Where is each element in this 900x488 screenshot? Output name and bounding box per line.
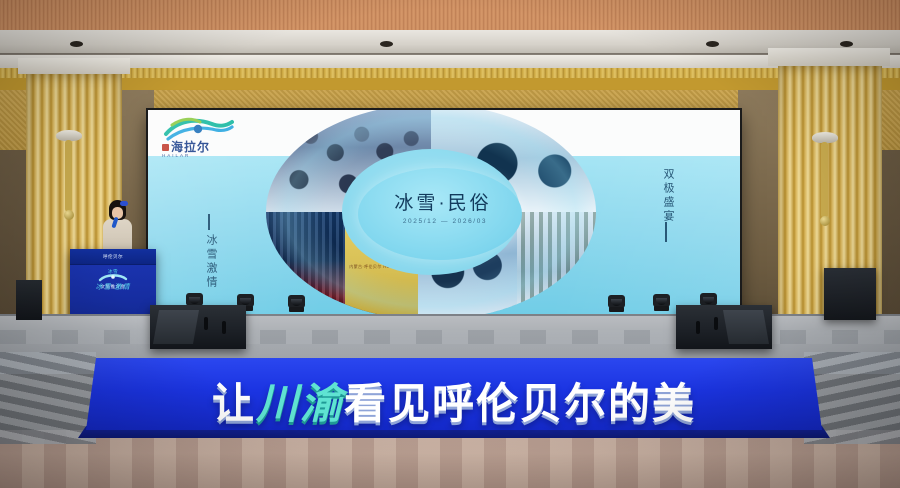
center-title: 冰雪·民俗 xyxy=(380,188,506,215)
podium-script-text: 冰雪 激情 xyxy=(70,282,156,292)
moving-head-light-icon xyxy=(653,289,670,311)
ceiling-spotlight-icon xyxy=(70,41,83,47)
pilaster-capital-left xyxy=(18,58,130,74)
riser-text-part2: 看见呼伦贝尔的美 xyxy=(344,380,696,427)
hailar-logo-cn: 海拉尔 xyxy=(162,142,246,153)
ballroom-carpet xyxy=(0,430,900,488)
ceiling xyxy=(0,0,900,34)
wall-alcove-right xyxy=(738,90,778,340)
wall-sconce-stem xyxy=(65,140,72,212)
ceiling-spotlight-icon xyxy=(706,41,719,47)
pilaster-capital-right xyxy=(768,48,890,66)
carpet-runner-left xyxy=(0,352,96,444)
presenter-hair-accessory xyxy=(120,201,128,206)
wall-sconce-stem xyxy=(821,142,828,218)
podium-logo-icon xyxy=(98,269,128,279)
event-stage-photo: 海拉尔 HAILAR 内蒙古·呼伦贝尔 HULUN BUIR xyxy=(0,0,900,488)
left-text-rule xyxy=(208,214,210,230)
stage-monitor-speaker-right xyxy=(676,305,772,349)
riser-text-accent: 川渝 xyxy=(256,380,344,427)
wall-sconce-finial xyxy=(820,216,830,226)
left-vertical-text: 冰雪激情 xyxy=(203,234,219,290)
stage-riser-headline: 让川渝看见呼伦贝尔的美 xyxy=(86,370,822,431)
hailar-logo: 海拉尔 HAILAR xyxy=(162,116,246,162)
wall-sconce-finial xyxy=(64,210,74,220)
ceiling-spotlight-icon xyxy=(840,41,853,47)
ceiling-spotlight-icon xyxy=(380,41,393,47)
line-array-speaker-right xyxy=(824,268,876,320)
right-text-rule xyxy=(665,222,667,242)
center-date-range: 2025/12 — 2026/03 xyxy=(370,218,520,225)
red-seal-icon xyxy=(162,144,169,151)
stage-monitor-speaker-left xyxy=(150,305,246,349)
riser-text-part1: 让 xyxy=(212,380,256,427)
right-vertical-text: 双极盛宴 xyxy=(660,168,676,224)
moving-head-light-icon xyxy=(608,290,625,312)
moving-head-light-icon xyxy=(288,290,305,312)
hailar-logo-mark-icon xyxy=(162,116,234,142)
line-array-speaker-left xyxy=(16,280,42,320)
podium-banner: 呼伦贝尔冰雪文旅推介会 xyxy=(70,249,156,265)
